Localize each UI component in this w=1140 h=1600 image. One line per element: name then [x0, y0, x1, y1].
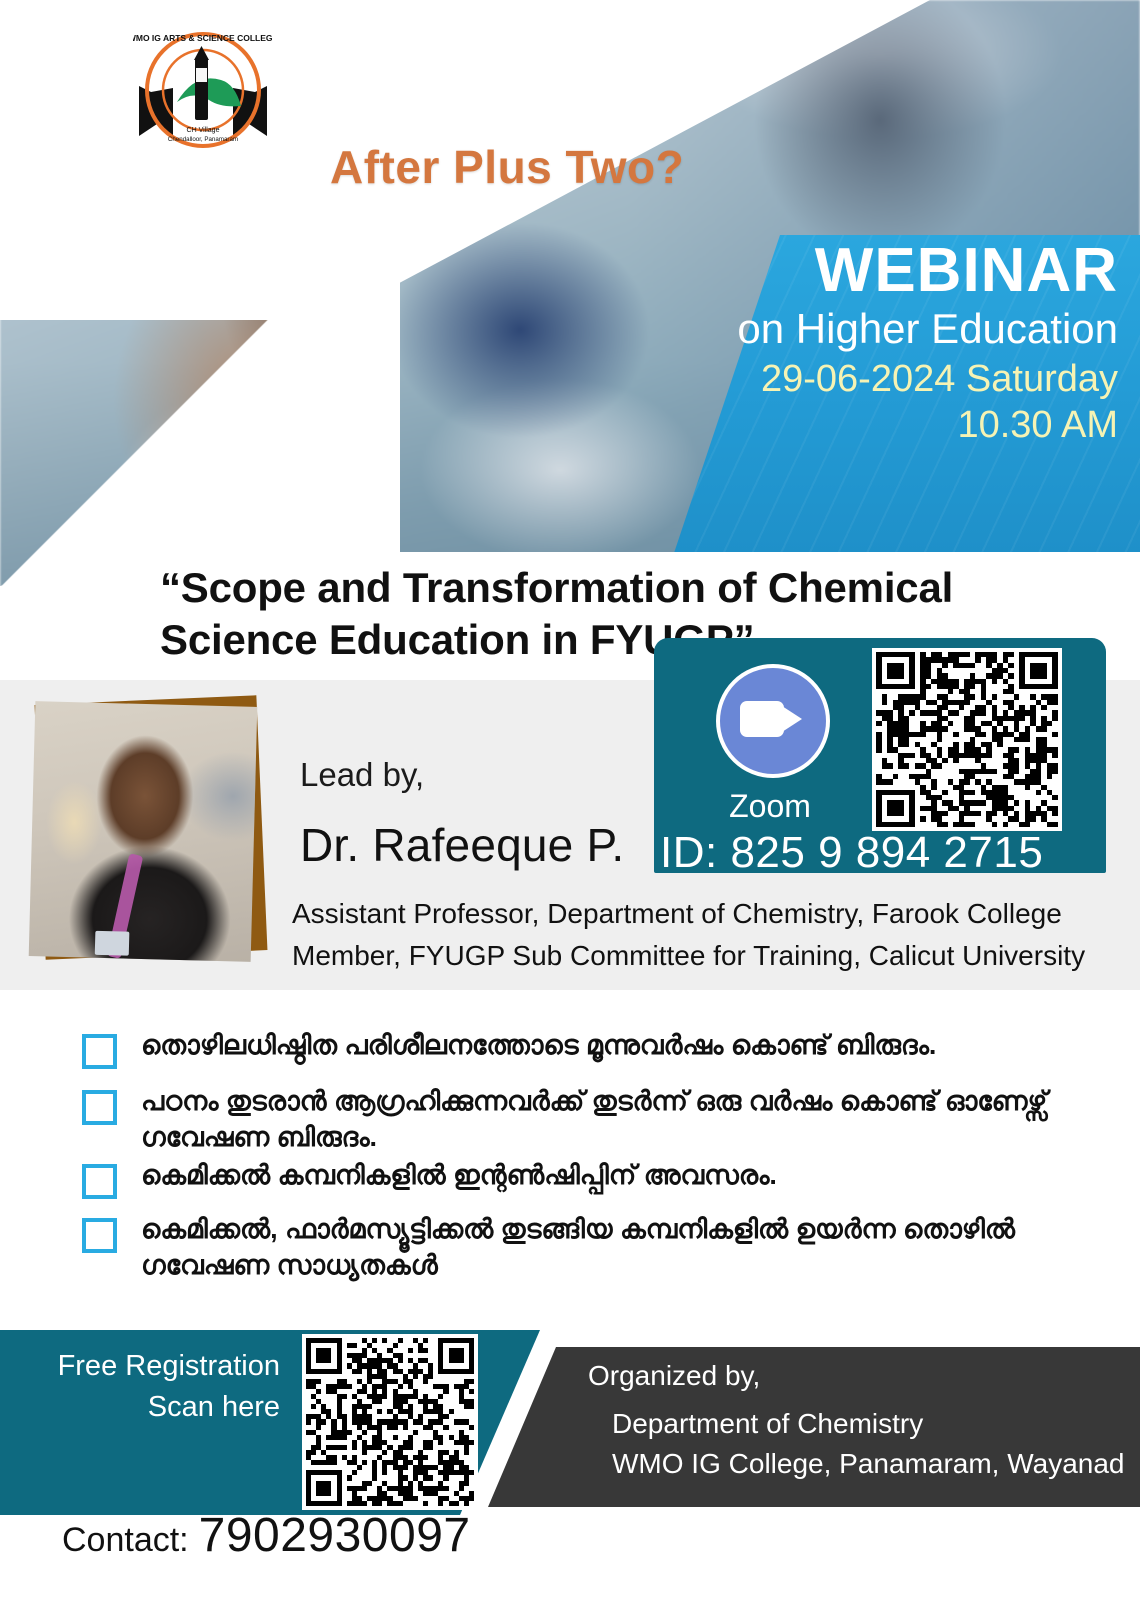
- organizer-department: Department of Chemistry: [612, 1408, 923, 1440]
- hero-section: WEBINAR on Higher Education 29-06-2024 S…: [0, 0, 1140, 600]
- bullet-text: കെമിക്കൽ കമ്പനികളിൽ ഇന്റൺഷിപ്പിന് അവസരം.: [141, 1158, 777, 1194]
- camera-body: [740, 701, 784, 737]
- free-registration-text: Free Registration Scan here: [20, 1346, 280, 1428]
- bullet-text: പഠനം തുടരാൻ ആഗ്രഹിക്കുന്നവർക്ക് തുടർന്ന്…: [141, 1084, 1092, 1155]
- camera-lens: [782, 706, 802, 732]
- speaker-affiliation-1: Assistant Professor, Department of Chemi…: [292, 898, 1062, 930]
- webinar-subtitle: on Higher Education: [668, 303, 1118, 356]
- left-diagonal-wedge: [0, 170, 400, 600]
- speaker-photo: [29, 701, 258, 962]
- contact-number: 7902930097: [199, 1508, 471, 1563]
- free-registration-line-2: Scan here: [20, 1387, 280, 1428]
- logo-ring-text: WMO IG ARTS & SCIENCE COLLEGE: [133, 33, 273, 43]
- logo-subtext-2: Chendalloor, Panamaram: [168, 136, 238, 143]
- checkbox-icon: [82, 1218, 117, 1253]
- webinar-info-block: WEBINAR on Higher Education 29-06-2024 S…: [668, 238, 1118, 449]
- list-item: തൊഴിലധിഷ്ഠിത പരിശീലനത്തോടെ മൂന്നുവർഷം കൊ…: [82, 1028, 1092, 1069]
- webinar-date: 29-06-2024 Saturday: [668, 356, 1118, 404]
- list-item: കെമിക്കൽ കമ്പനികളിൽ ഇന്റൺഷിപ്പിന് അവസരം.: [82, 1158, 1092, 1199]
- speaker-affiliation-2: Member, FYUGP Sub Committee for Training…: [292, 940, 1085, 972]
- college-logo-icon: WMO IG ARTS & SCIENCE COLLEGE CH Village…: [133, 28, 273, 158]
- list-item: പഠനം തുടരാൻ ആഗ്രഹിക്കുന്നവർക്ക് തുടർന്ന്…: [82, 1084, 1092, 1155]
- webinar-title: WEBINAR: [668, 238, 1118, 303]
- contact-label: Contact:: [62, 1521, 189, 1560]
- hero-headline: After Plus Two?: [330, 140, 684, 194]
- free-registration-line-1: Free Registration: [20, 1346, 280, 1387]
- zoom-label: Zoom: [700, 788, 840, 825]
- webinar-time: 10.30 AM: [668, 403, 1118, 449]
- registration-qr-code[interactable]: [302, 1334, 478, 1510]
- logo-subtext-1: CH Village: [187, 127, 220, 134]
- organizer-college: WMO IG College, Panamaram, Wayanad: [612, 1448, 1124, 1480]
- bullet-text: തൊഴിലധിഷ്ഠിത പരിശീലനത്തോടെ മൂന്നുവർഷം കൊ…: [141, 1028, 936, 1064]
- lead-by-label: Lead by,: [300, 756, 424, 794]
- bullet-text: കെമിക്കൽ, ഫാർമസ്യൂട്ടിക്കൽ തുടങ്ങിയ കമ്പ…: [141, 1212, 1092, 1283]
- organized-by-label: Organized by,: [588, 1360, 760, 1392]
- zoom-meeting-id: ID: 825 9 894 2715: [660, 828, 1106, 878]
- checkbox-icon: [82, 1090, 117, 1125]
- checkbox-icon: [82, 1164, 117, 1199]
- speaker-name: Dr. Rafeeque P.: [300, 818, 624, 872]
- zoom-camera-icon: [716, 664, 830, 778]
- zoom-qr-code[interactable]: [872, 648, 1062, 831]
- checkbox-icon: [82, 1034, 117, 1069]
- id-badge-detail: [95, 931, 130, 956]
- contact-line: Contact: 7902930097: [62, 1508, 471, 1563]
- poster-root: WEBINAR on Higher Education 29-06-2024 S…: [0, 0, 1140, 1600]
- list-item: കെമിക്കൽ, ഫാർമസ്യൂട്ടിക്കൽ തുടങ്ങിയ കമ്പ…: [82, 1212, 1092, 1283]
